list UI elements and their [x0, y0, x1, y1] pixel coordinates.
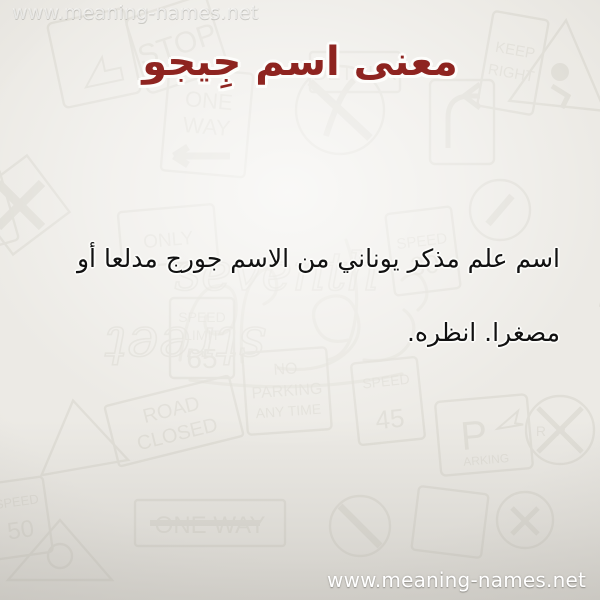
watermark-bottom: www.meaning-names.net [327, 568, 586, 592]
name-meaning-card: ONE WAY DETOUR KEEP RIGHT [0, 0, 600, 600]
page-title: معنى اسم جِيجو [0, 41, 600, 83]
definition-line-2: مصغرا. انظره. [40, 296, 560, 370]
name-definition: اسم علم مذكر يوناني من الاسم جورج مدلعا … [40, 222, 560, 370]
watermark-top: www.meaning-names.net [12, 2, 258, 24]
definition-line-1: اسم علم مذكر يوناني من الاسم جورج مدلعا … [40, 222, 560, 296]
